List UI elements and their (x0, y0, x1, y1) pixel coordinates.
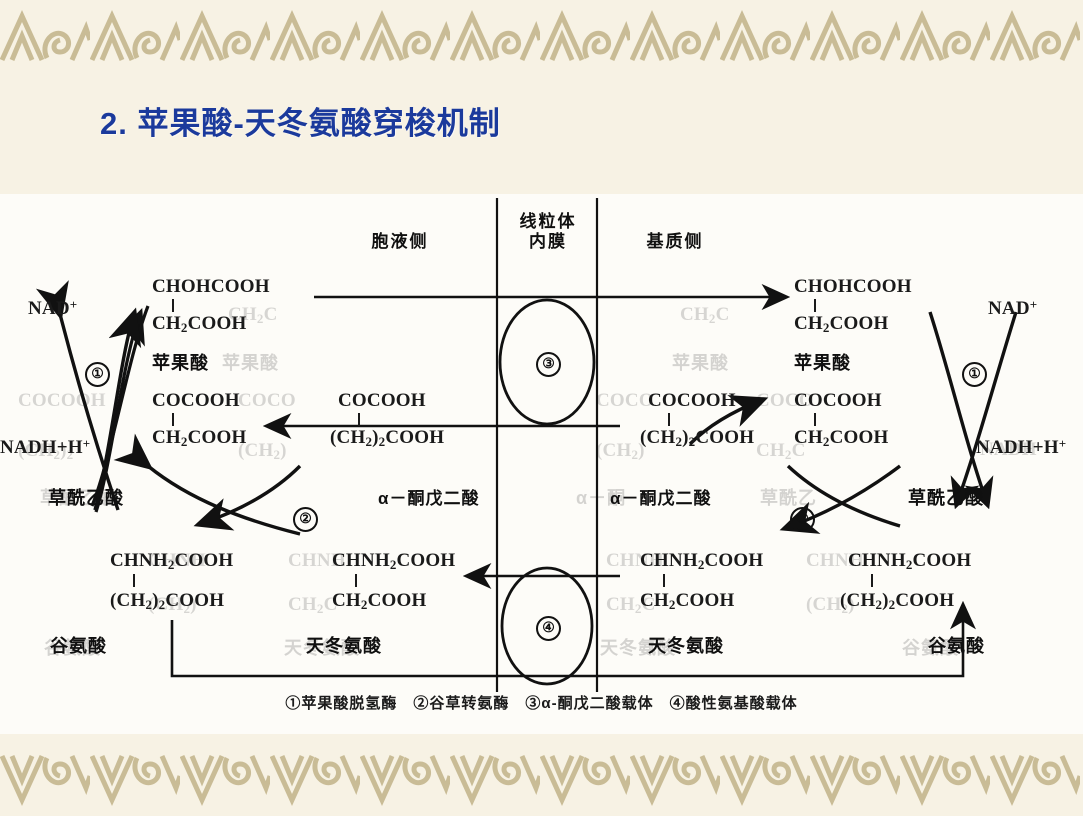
nadh-right: NADH+H+ (976, 436, 1066, 459)
akg-left-line2: (CH2)2COOH (330, 427, 444, 450)
shuttle-diagram-figure: COCOOH (CH2)2 草酰乙酸 CH2C 苹果酸 COCO (CH2) C… (0, 194, 1083, 734)
border-tile (270, 0, 360, 62)
malate-left-name: 苹果酸 (152, 349, 209, 375)
akg-left-line1: COCOOH (338, 390, 426, 412)
akg-right-line1: COCOOH (648, 390, 736, 412)
bond-asp-left (355, 574, 357, 587)
border-tile (540, 754, 630, 816)
marker-enzyme-1-right: ① (962, 362, 987, 387)
malate-left-line1: CHOHCOOH (152, 276, 270, 298)
marker-carrier-3: ③ (536, 352, 561, 377)
malate-right-line1: CHOHCOOH (794, 276, 912, 298)
label-inner-membrane: 线粒体 内膜 (505, 212, 591, 252)
asp-left-name: 天冬氨酸 (306, 632, 382, 658)
asp-right-name: 天冬氨酸 (648, 632, 724, 658)
oaa-left-name: 草酰乙酸 (48, 484, 124, 510)
figure-legend: ①苹果酸脱氢酶 ②谷草转氨酶 ③α-酮戊二酸载体 ④酸性氨基酸载体 (0, 692, 1083, 713)
bond-glu-right (871, 574, 873, 587)
bond-akg-right (668, 413, 670, 426)
border-tile (360, 0, 450, 62)
label-cytosol-side: 胞液侧 (355, 232, 445, 252)
bond-oaa-right (814, 413, 816, 426)
oaa-right-name: 草酰乙酸 (908, 484, 984, 510)
nad-plus-left: NAD+ (28, 297, 77, 320)
border-tile (630, 754, 720, 816)
akg-left-name: α－酮戊二酸 (378, 484, 479, 509)
bond-asp-right (663, 574, 665, 587)
bond-malate-left (172, 299, 174, 312)
glu-right-name: 谷氨酸 (928, 632, 985, 658)
bond-malate-right (814, 299, 816, 312)
border-tile (630, 0, 720, 62)
akg-right-name: α－酮戊二酸 (610, 484, 711, 509)
decorative-border-bottom (0, 754, 1083, 816)
border-tile (720, 754, 810, 816)
decorative-border-top (0, 0, 1083, 62)
marker-enzyme-2-left: ② (293, 507, 318, 532)
border-tile (990, 0, 1080, 62)
bond-akg-left (358, 413, 360, 426)
glu-left-line2: (CH2)2COOH (110, 590, 224, 613)
asp-right-line2: CH2COOH (640, 590, 734, 613)
border-tile (450, 0, 540, 62)
oaa-left-line1: COCOOH (152, 390, 240, 412)
border-tile (180, 0, 270, 62)
border-tile (270, 754, 360, 816)
asp-left-line2: CH2COOH (332, 590, 426, 613)
bond-glu-left (133, 574, 135, 587)
akg-right-line2: (CH2)2COOH (640, 427, 754, 450)
nad-plus-right: NAD+ (988, 297, 1037, 320)
label-inner-membrane-line1: 线粒体 (505, 212, 591, 232)
marker-enzyme-1-left: ① (85, 362, 110, 387)
border-tile (810, 754, 900, 816)
border-tile (900, 0, 990, 62)
border-tile (900, 754, 990, 816)
slide-title: 2. 苹果酸-天冬氨酸穿梭机制 (100, 98, 501, 143)
malate-left-line2: CH2COOH (152, 313, 246, 336)
border-tile (540, 0, 630, 62)
glu-right-line1: CHNH2COOH (848, 550, 971, 573)
oaa-left-line2: CH2COOH (152, 427, 246, 450)
label-inner-membrane-line2: 内膜 (505, 232, 591, 252)
asp-left-line1: CHNH2COOH (332, 550, 455, 573)
glu-right-line2: (CH2)2COOH (840, 590, 954, 613)
malate-right-line2: CH2COOH (794, 313, 888, 336)
border-tile (360, 754, 450, 816)
oaa-right-line2: CH2COOH (794, 427, 888, 450)
label-matrix-side: 基质侧 (630, 232, 720, 252)
border-tile (0, 0, 90, 62)
glu-left-name: 谷氨酸 (50, 632, 107, 658)
malate-right-name: 苹果酸 (794, 349, 851, 375)
glu-left-line1: CHNH2COOH (110, 550, 233, 573)
bond-oaa-left (172, 413, 174, 426)
marker-carrier-4: ④ (536, 616, 561, 641)
marker-enzyme-2-right: ② (790, 507, 815, 532)
border-tile (810, 0, 900, 62)
border-tile (720, 0, 810, 62)
border-tile (90, 754, 180, 816)
border-tile (0, 754, 90, 816)
asp-right-line1: CHNH2COOH (640, 550, 763, 573)
oaa-right-line1: COCOOH (794, 390, 882, 412)
border-tile (90, 0, 180, 62)
nadh-left: NADH+H+ (0, 436, 90, 459)
border-tile (180, 754, 270, 816)
border-tile (990, 754, 1080, 816)
border-tile (450, 754, 540, 816)
